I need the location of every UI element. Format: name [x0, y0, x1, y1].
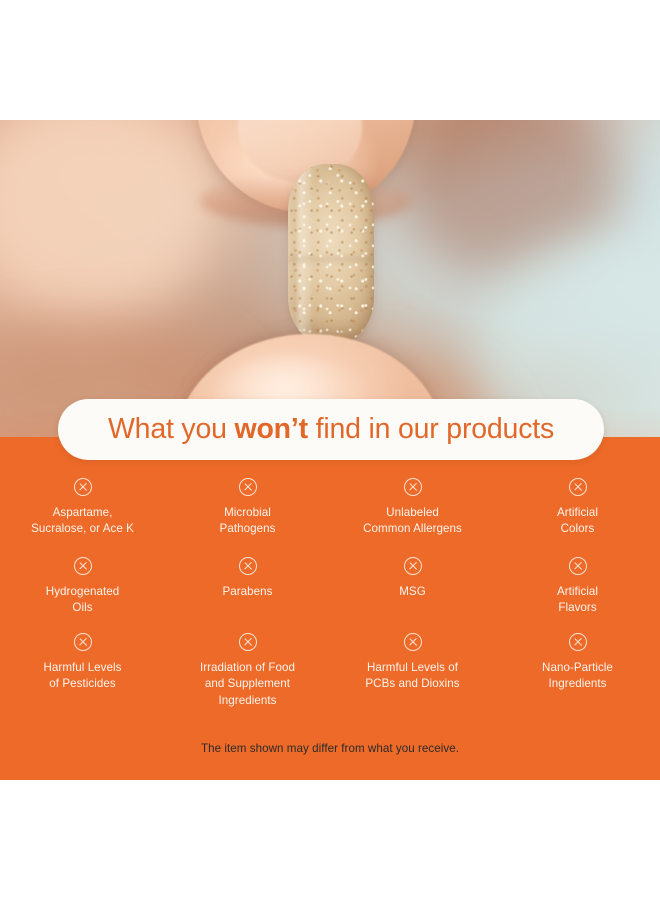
- page-title: What you won’t find in our products: [108, 415, 554, 444]
- headline-prefix: What you: [108, 413, 235, 445]
- list-item: Harmful Levels ofPCBs and Dioxins: [330, 633, 495, 713]
- list-item: HydrogenatedOils: [0, 557, 165, 633]
- list-item-label: ArtificialColors: [557, 505, 598, 538]
- circle-x-icon: [404, 557, 422, 575]
- tablet-speckles: [288, 164, 374, 344]
- circle-x-icon: [239, 557, 257, 575]
- list-item-label: UnlabeledCommon Allergens: [363, 505, 462, 538]
- headline-emphasis: won’t: [235, 413, 308, 445]
- circle-x-icon: [404, 478, 422, 496]
- list-item: Harmful Levelsof Pesticides: [0, 633, 165, 713]
- list-item: Aspartame,Sucralose, or Ace K: [0, 478, 165, 557]
- product-info-graphic: What you won’t find in our products Aspa…: [0, 0, 660, 900]
- list-item-label: MSG: [399, 584, 426, 600]
- list-item-label: Aspartame,Sucralose, or Ace K: [31, 505, 134, 538]
- circle-x-icon: [239, 478, 257, 496]
- list-item: Irradiation of Foodand SupplementIngredi…: [165, 633, 330, 713]
- list-item-label: Nano-ParticleIngredients: [542, 660, 613, 693]
- list-item-label: Parabens: [222, 584, 272, 600]
- circle-x-icon: [569, 557, 587, 575]
- tablet-band: [288, 256, 374, 264]
- list-item: ArtificialFlavors: [495, 557, 660, 633]
- list-item: MSG: [330, 557, 495, 633]
- circle-x-icon: [74, 478, 92, 496]
- list-item: MicrobialPathogens: [165, 478, 330, 557]
- excluded-ingredients-grid: Aspartame,Sucralose, or Ace K MicrobialP…: [0, 478, 660, 713]
- list-item-label: HydrogenatedOils: [46, 584, 119, 617]
- list-item-label: Harmful Levelsof Pesticides: [43, 660, 121, 693]
- list-item: UnlabeledCommon Allergens: [330, 478, 495, 557]
- tablet-icon: [288, 164, 374, 344]
- list-item: ArtificialColors: [495, 478, 660, 557]
- circle-x-icon: [569, 478, 587, 496]
- list-item-label: Irradiation of Foodand SupplementIngredi…: [200, 660, 295, 709]
- list-item: Parabens: [165, 557, 330, 633]
- circle-x-icon: [404, 633, 422, 651]
- list-item-label: ArtificialFlavors: [557, 584, 598, 617]
- list-item: Nano-ParticleIngredients: [495, 633, 660, 713]
- circle-x-icon: [74, 633, 92, 651]
- headline-banner: What you won’t find in our products: [58, 399, 604, 460]
- product-photo: [0, 120, 660, 440]
- list-item-label: Harmful Levels ofPCBs and Dioxins: [365, 660, 459, 693]
- disclaimer-text: The item shown may differ from what you …: [0, 741, 660, 757]
- circle-x-icon: [239, 633, 257, 651]
- list-item-label: MicrobialPathogens: [220, 505, 276, 538]
- circle-x-icon: [74, 557, 92, 575]
- headline-suffix: find in our products: [308, 413, 554, 445]
- circle-x-icon: [569, 633, 587, 651]
